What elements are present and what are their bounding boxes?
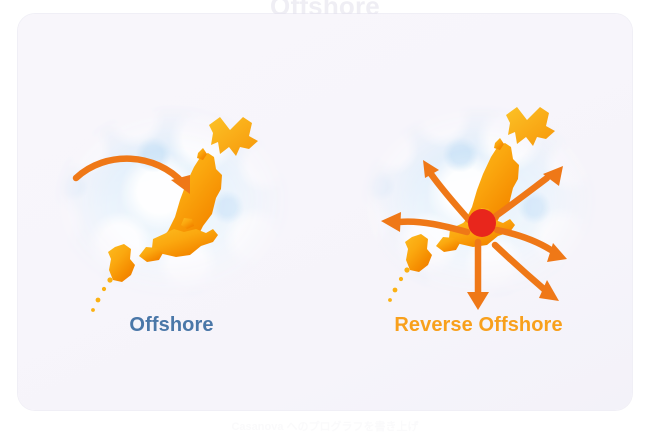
region-ryukyu-islands (388, 267, 410, 302)
region-ryukyu-islands (91, 277, 113, 312)
region-kyushu (108, 244, 135, 282)
caption-reverse-offshore: Reverse Offshore (325, 314, 632, 337)
caption-offshore: Offshore (18, 314, 325, 337)
slide-card: Offshore (18, 14, 632, 410)
illustration-offshore (38, 90, 306, 314)
region-kyushu (405, 234, 432, 272)
ghost-caption-bottom: Casanova へのプログラフを書き上げ (0, 418, 650, 434)
region-hokkaido (209, 117, 258, 156)
panel-container: Offshore (18, 14, 632, 410)
origin-marker-dot (468, 209, 496, 237)
outbound-arrow-left (381, 212, 467, 232)
panel-reverse-offshore[interactable]: Reverse Offshore (325, 14, 632, 410)
illustration-reverse-offshore (345, 90, 613, 314)
outbound-arrow-lower-right (495, 245, 559, 301)
outbound-arrow-down (467, 242, 489, 310)
outbound-arrow-upper-left (423, 160, 469, 220)
inbound-arrow (76, 159, 190, 194)
region-hokkaido (506, 107, 555, 146)
panel-offshore[interactable]: Offshore (18, 14, 325, 410)
